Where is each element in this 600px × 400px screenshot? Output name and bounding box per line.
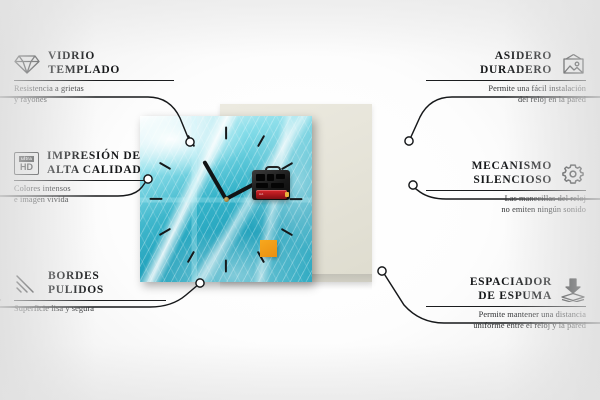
diagonal-lines-icon: [14, 273, 40, 295]
feature-title-line1: MECANISMO: [472, 160, 552, 174]
feature-title-line2: PULIDOS: [48, 284, 104, 298]
feature-title-line2: ALTA CALIDAD: [47, 164, 141, 178]
feature-desc-line1: Resistencia a grietas: [14, 84, 174, 95]
leader-node-1: [186, 138, 194, 146]
leader-node-5: [409, 181, 417, 189]
arrow-down-layers-icon: [560, 278, 586, 302]
feature-title-line1: ESPACIADOR: [470, 276, 552, 290]
feature-bordes-pulidos: BORDES PULIDOS Superficie lisa y segura: [14, 270, 166, 315]
feature-vidrio-templado: VIDRIO TEMPLADO Resistencia a grietas y …: [14, 50, 174, 105]
ultra-hd-icon-bottom: HD: [20, 162, 33, 172]
feature-desc-line1: Permite una fácil instalación: [426, 84, 586, 95]
feature-header: BORDES PULIDOS: [14, 270, 166, 297]
feature-desc-line1: Colores intensos: [14, 184, 144, 195]
feature-header: ASIDERO DURADERO: [426, 50, 586, 77]
feature-desc-line1: Superficie lisa y segura: [14, 304, 166, 315]
feature-espaciador-de-espuma: ESPACIADOR DE ESPUMA Permite mantener un…: [426, 276, 586, 331]
feature-desc-line1: Las manecillas del reloj: [426, 194, 586, 205]
ultra-hd-icon: ultra HD: [14, 152, 39, 175]
feature-header: ultra HD IMPRESIÓN DE ALTA CALIDAD: [14, 150, 144, 177]
feature-rule: [14, 180, 144, 181]
leader-node-6: [378, 267, 386, 275]
feature-header: ESPACIADOR DE ESPUMA: [426, 276, 586, 303]
feature-rule: [426, 80, 586, 81]
feature-rule: [426, 306, 586, 307]
feature-desc-line2: e imagen vívida: [14, 195, 144, 206]
feature-impresion-alta-calidad: ultra HD IMPRESIÓN DE ALTA CALIDAD Color…: [14, 150, 144, 205]
feature-rule: [14, 80, 174, 81]
feature-desc-line2: uniforme entre el reloj y la pared: [426, 321, 586, 332]
feature-title-line2: DE ESPUMA: [470, 290, 552, 304]
feature-asidero-duradero: ASIDERO DURADERO Permite una fácil insta…: [426, 50, 586, 105]
feature-header: MECANISMO SILENCIOSO: [426, 160, 586, 187]
feature-desc-line1: Permite mantener una distancia: [426, 310, 586, 321]
feature-desc-line2: no emiten ningún sonido: [426, 205, 586, 216]
feature-title-line1: VIDRIO: [48, 50, 120, 64]
gear-icon: [560, 163, 586, 185]
feature-rule: [426, 190, 586, 191]
feature-title-line1: IMPRESIÓN DE: [47, 150, 141, 164]
diamond-icon: [14, 53, 40, 75]
feature-title-line2: TEMPLADO: [48, 64, 120, 78]
leader-node-3: [196, 279, 204, 287]
feature-desc-line2: del reloj en la pared: [426, 95, 586, 106]
feature-rule: [14, 300, 166, 301]
feature-title-line2: SILENCIOSO: [472, 174, 552, 188]
leader-node-2: [144, 175, 152, 183]
feature-title-line1: BORDES: [48, 270, 104, 284]
leader-node-4: [405, 137, 413, 145]
wall-hanger-icon: [560, 53, 586, 75]
feature-mecanismo-silencioso: MECANISMO SILENCIOSO Las manecillas del …: [426, 160, 586, 215]
feature-title-line1: ASIDERO: [480, 50, 552, 64]
infographic-canvas: AA: [0, 0, 600, 400]
feature-header: VIDRIO TEMPLADO: [14, 50, 174, 77]
feature-desc-line2: y rayones: [14, 95, 174, 106]
feature-title-line2: DURADERO: [480, 64, 552, 78]
